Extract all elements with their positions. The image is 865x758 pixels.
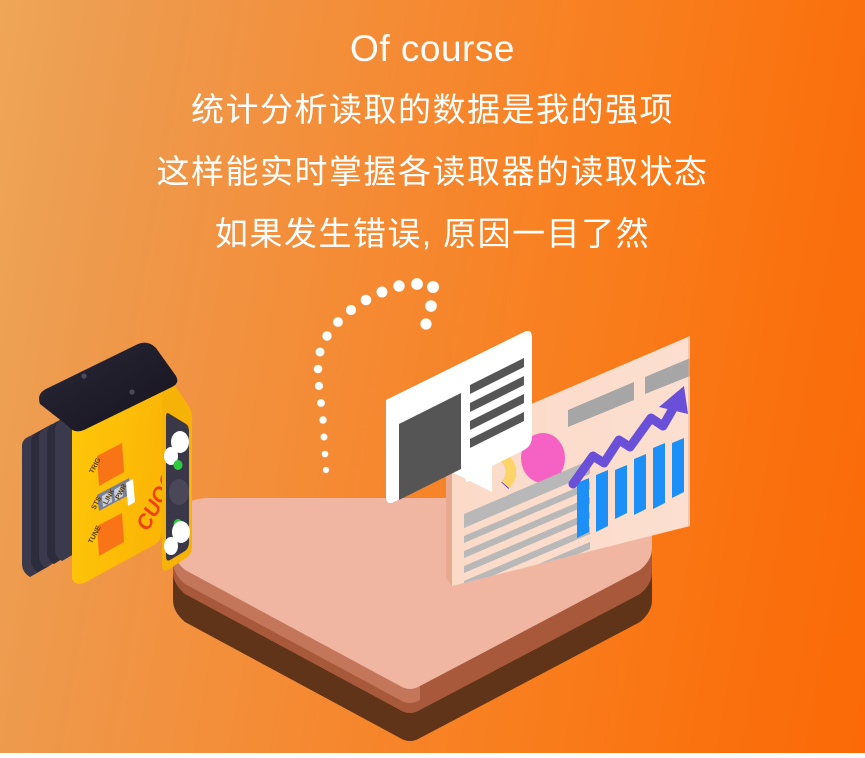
bottom-white-strip (0, 753, 865, 758)
barcode-scanner-device: TRIG TUNE STS LINK PWR CUOC (22, 343, 192, 584)
headline-english: Of course (0, 27, 865, 71)
top-screw-left (81, 373, 86, 378)
isometric-scene: TRIG TUNE STS LINK PWR CUOC (0, 260, 865, 758)
headline-chinese-line-1: 统计分析读取的数据是我的强项 (0, 88, 865, 132)
headline-chinese-line-3: 如果发生错误, 原因一目了然 (0, 212, 865, 256)
headline-chinese-line-2: 这样能实时掌握各读取器的读取状态 (0, 150, 865, 194)
scanner-front-face (162, 380, 192, 571)
illustration-canvas: Of course 统计分析读取的数据是我的强项 这样能实时掌握各读取器的读取状… (0, 0, 865, 758)
status-led-green-upper (174, 460, 183, 470)
top-screw-right (129, 389, 134, 394)
